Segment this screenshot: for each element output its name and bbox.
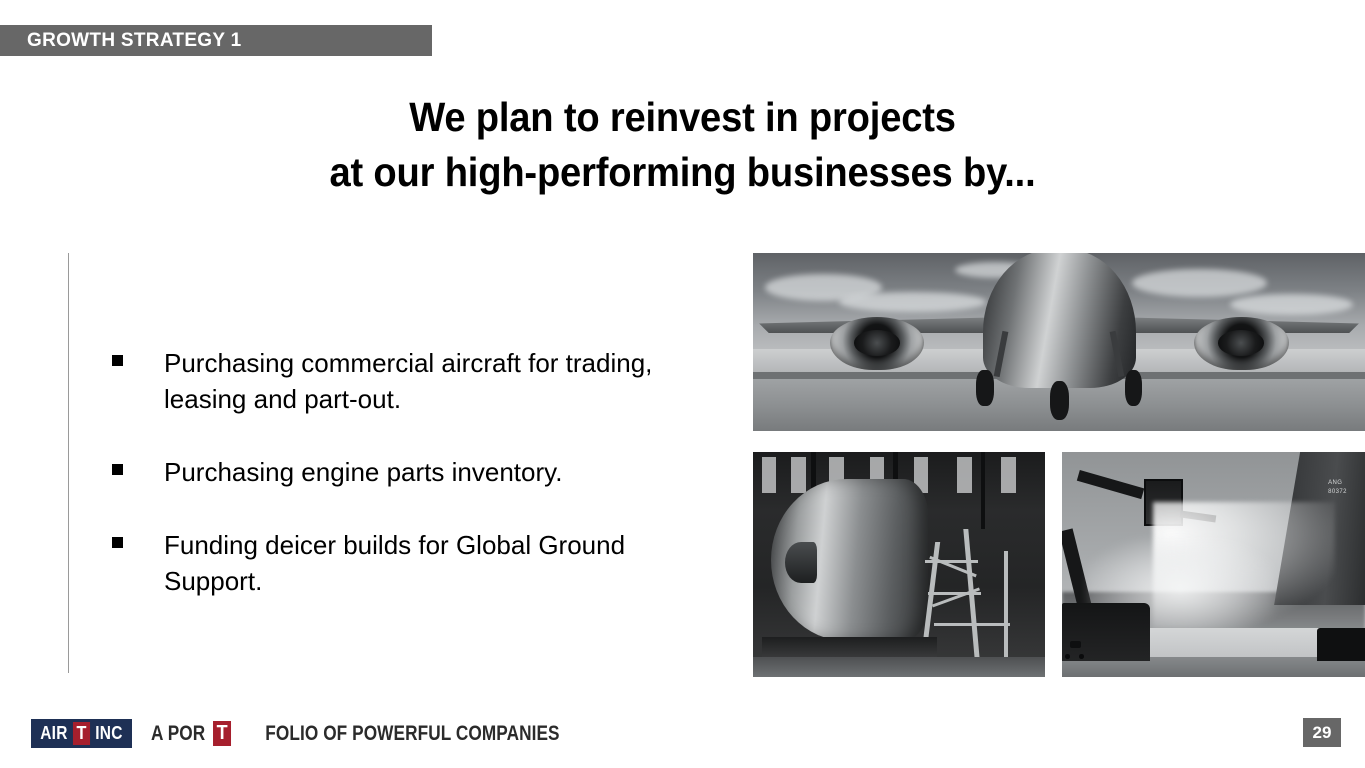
photo-commercial-aircraft-front-view: [753, 253, 1365, 431]
footer-tagline: A POR T FOLIO OF POWERFUL COMPANIES: [145, 721, 592, 746]
bullet-list: Purchasing commercial aircraft for tradi…: [112, 345, 732, 599]
truck-wheel: [1079, 654, 1084, 659]
tagline-text-after: FOLIO OF POWERFUL COMPANIES: [266, 722, 560, 746]
hangar-window: [1001, 457, 1016, 493]
background-vehicle: [1317, 628, 1365, 662]
tagline-highlight-t: T: [213, 721, 231, 746]
engine-nacelle-left: [830, 317, 925, 370]
logo-highlight-t: T: [73, 722, 90, 745]
hangar-floor: [753, 657, 1045, 677]
title-line-1: We plan to reinvest in projects: [48, 90, 1317, 145]
hangar-window: [957, 457, 972, 493]
list-item: Purchasing commercial aircraft for tradi…: [112, 345, 732, 417]
square-bullet-icon: [112, 355, 123, 366]
list-item: Purchasing engine parts inventory.: [112, 454, 732, 490]
truck-wheel: [1065, 654, 1070, 659]
list-item-label: Funding deicer builds for Global Ground …: [164, 527, 720, 599]
fuselage-nose: [983, 253, 1136, 388]
deicer-truck: [1062, 603, 1150, 662]
engine-transport-stand: [762, 637, 937, 657]
eyebrow-label: GROWTH STRATEGY 1: [0, 30, 241, 52]
cloud-shape: [1230, 294, 1352, 315]
photo-jet-engine-in-maintenance-hangar: [753, 452, 1045, 677]
truck-cab: [1070, 641, 1081, 648]
page-number-label: 29: [1313, 723, 1332, 743]
page-title: We plan to reinvest in projects at our h…: [0, 90, 1365, 200]
list-item: Funding deicer builds for Global Ground …: [112, 527, 732, 599]
air-t-inc-logo: AIR T INC: [31, 719, 132, 748]
footer-logo: AIR T INC A POR T FOLIO OF POWERFUL COMP…: [31, 719, 592, 748]
page-number-badge: 29: [1303, 718, 1341, 747]
tagline-text-before: A POR: [151, 722, 205, 746]
hangar-window: [762, 457, 777, 493]
logo-text-air: AIR: [40, 723, 67, 744]
main-landing-gear-right: [1125, 370, 1142, 406]
engine-nacelle-right: [1194, 317, 1289, 370]
tail-registration-marking: ANG80372: [1328, 479, 1347, 497]
nose-landing-gear: [1050, 381, 1070, 420]
slide-canvas: GROWTH STRATEGY 1 We plan to reinvest in…: [0, 0, 1365, 768]
engine-spinner-cone: [785, 542, 817, 583]
square-bullet-icon: [112, 464, 123, 475]
scaffold-post: [1004, 551, 1008, 659]
photo-aircraft-deicing-operation: ANG80372: [1062, 452, 1365, 677]
logo-text-inc: INC: [95, 723, 122, 744]
main-landing-gear-left: [976, 370, 993, 406]
eyebrow-bar: GROWTH STRATEGY 1: [0, 25, 432, 56]
cloud-shape: [839, 292, 986, 312]
square-bullet-icon: [112, 537, 123, 548]
list-item-label: Purchasing commercial aircraft for tradi…: [164, 345, 720, 417]
content-divider: [68, 253, 69, 673]
list-item-label: Purchasing engine parts inventory.: [164, 454, 562, 490]
title-line-2: at our high-performing businesses by...: [48, 145, 1317, 200]
